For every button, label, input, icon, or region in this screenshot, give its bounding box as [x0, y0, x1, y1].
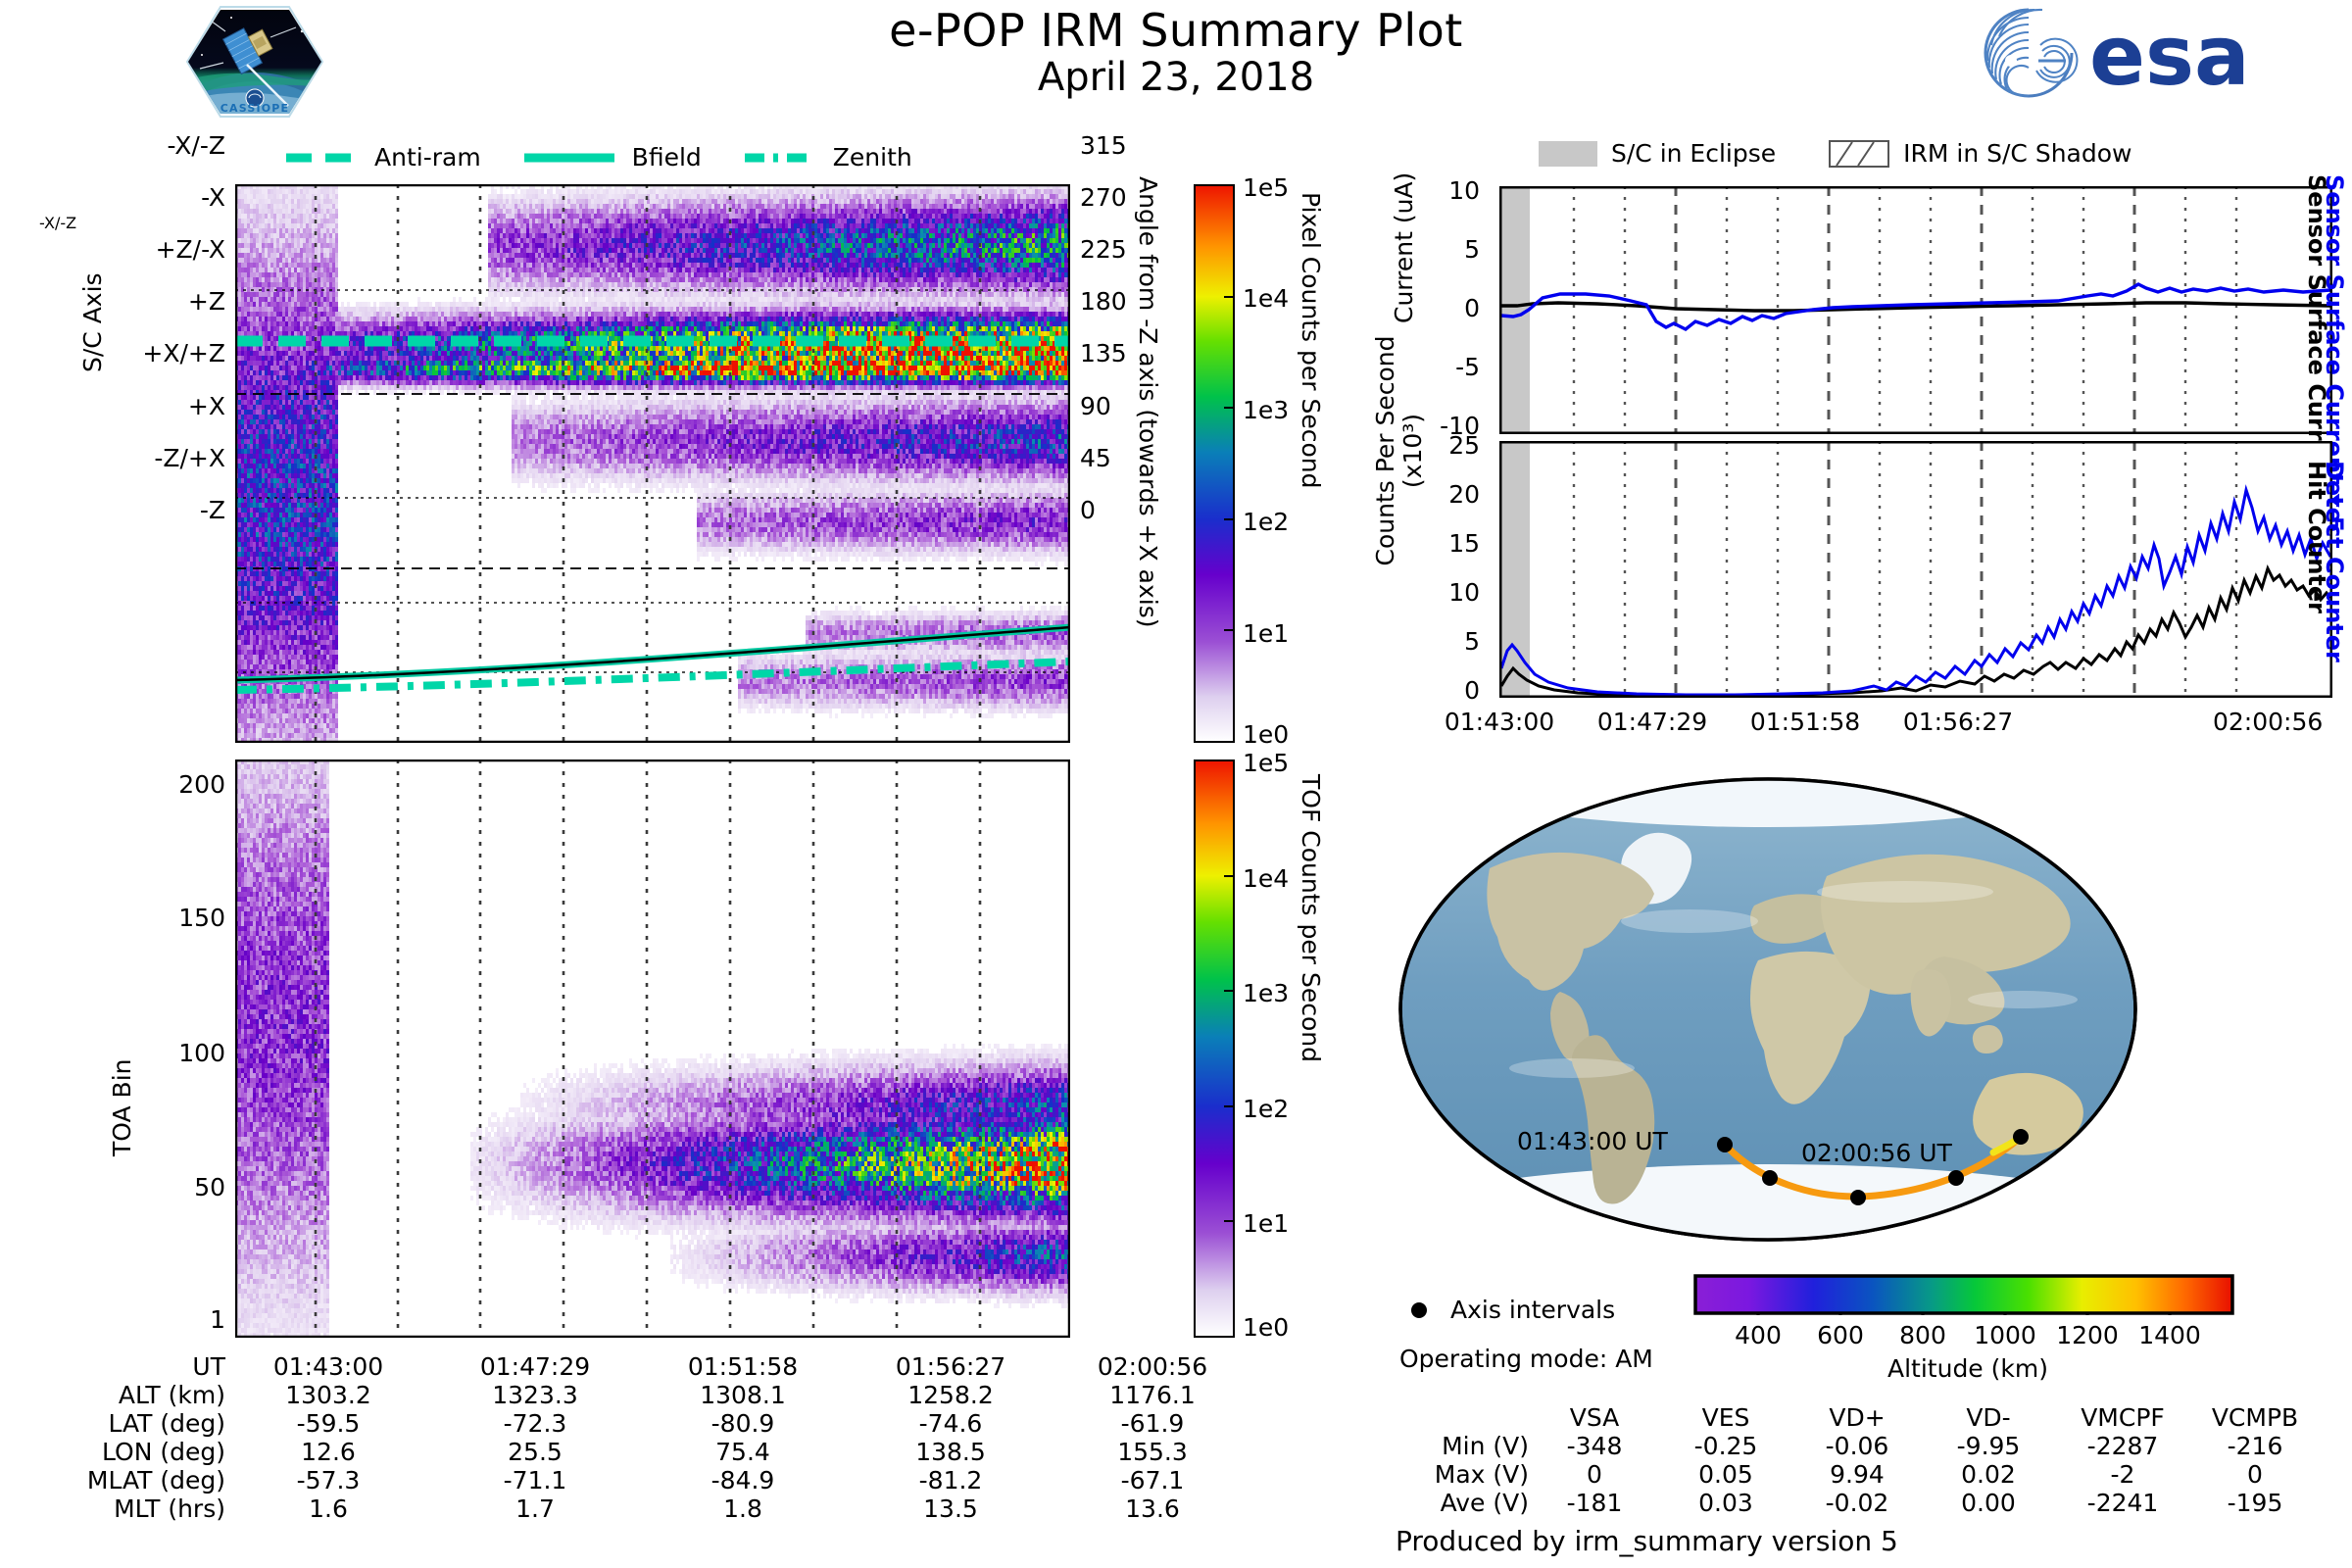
esa-logo: esa [1982, 6, 2334, 100]
eclipse-swatch-icon [1539, 141, 1597, 167]
spectrogram-top-ytick-left-label-0: -X/-Z [59, 131, 225, 160]
legend-swatch-bfield [522, 151, 616, 165]
operating-mode: Operating mode: AM [1399, 1345, 1653, 1373]
legend-label-anti-ram: Anti-ram [374, 143, 481, 171]
toa-ytick-0: 200 [59, 770, 225, 799]
counts-panel-plot [1499, 441, 2332, 698]
voltage-col-vdp: VD+ [1791, 1403, 1923, 1432]
voltage-row-min: Min (V) -348 -0.25 -0.06 -9.95 -2287 -21… [1396, 1432, 2319, 1460]
pixel-cb-tick-4: 1e1 [1243, 619, 1289, 648]
pixel-counts-colorbar [1194, 184, 1235, 743]
cell-lon-2: 75.4 [639, 1438, 847, 1466]
voltage-table: VSA VES VD+ VD- VMCPF VCMPB Min (V) -348… [1396, 1403, 2319, 1517]
counts-ytick-1: 20 [1372, 480, 1480, 509]
cell-lon-1: 25.5 [431, 1438, 639, 1466]
pixel-cb-tick-3: 1e2 [1243, 508, 1289, 536]
cell-lon-3: 138.5 [847, 1438, 1054, 1466]
spectrogram-top-ytick-left-label-5: +X [59, 392, 225, 420]
current-panel-legend: S/C in Eclipse IRM in S/C Shadow [1539, 139, 2131, 168]
voltage-ave-vdm: 0.00 [1923, 1489, 2054, 1517]
voltage-col-vdm: VD- [1923, 1403, 2054, 1432]
voltage-col-ves: VES [1660, 1403, 1791, 1432]
counts-ytick-2: 15 [1372, 529, 1480, 558]
svg-text:esa: esa [2089, 8, 2250, 100]
spectrogram-top-ytick-right-label-2: 225 [1080, 235, 1127, 264]
counts-xtick-3: 01:56:27 [1870, 708, 2046, 736]
row-label-lon: LON (deg) [29, 1438, 225, 1466]
footer-produced-by: Produced by irm_summary version 5 [1396, 1525, 1898, 1557]
spectrogram-top-ytick-right-label-1: 270 [1080, 183, 1127, 212]
tof-cb-tick-1: 1e4 [1243, 864, 1289, 893]
spectrogram-top-ytick-right-label-4: 135 [1080, 339, 1127, 367]
map-end-label: 02:00:56 UT [1801, 1139, 1952, 1167]
legend-label-zenith: Zenith [833, 143, 912, 171]
cell-alt-4: 1176.1 [1054, 1381, 1250, 1409]
table-row-mlt: MLT (hrs) 1.6 1.7 1.8 13.5 13.6 [29, 1494, 1250, 1523]
voltage-header-row: VSA VES VD+ VD- VMCPF VCMPB [1396, 1403, 2319, 1432]
cell-mlat-3: -81.2 [847, 1466, 1054, 1494]
cell-ut-3: 01:56:27 [847, 1352, 1054, 1381]
spectrogram-top-ytick-left-label-6: -Z/+X [59, 444, 225, 472]
spectrogram-top-ylabel-right: Angle from -Z axis (towards +X axis) [1134, 176, 1162, 628]
cell-mlt-2: 1.8 [639, 1494, 847, 1523]
row-label-ut: UT [29, 1352, 225, 1381]
map-start-label: 01:43:00 UT [1517, 1127, 1668, 1155]
cell-mlt-3: 13.5 [847, 1494, 1054, 1523]
spectrogram-top [235, 184, 1070, 743]
ephemeris-table: UT 01:43:00 01:47:29 01:51:58 01:56:27 0… [29, 1352, 1250, 1523]
toa-ytick-4: 1 [59, 1305, 225, 1334]
current-ytick-0: 10 [1372, 176, 1480, 205]
axis-intervals-legend: Axis intervals [1411, 1296, 1615, 1324]
voltage-max-vsa: 0 [1529, 1460, 1660, 1489]
cell-lat-1: -72.3 [431, 1409, 639, 1438]
spectrogram-top-ytick-right-label-7: 0 [1080, 496, 1096, 524]
cell-mlat-1: -71.1 [431, 1466, 639, 1494]
voltage-col-vsa: VSA [1529, 1403, 1660, 1432]
cell-lat-3: -74.6 [847, 1409, 1054, 1438]
cell-mlt-0: 1.6 [225, 1494, 431, 1523]
tof-cb-tick-2: 1e3 [1243, 979, 1289, 1007]
voltage-ave-ves: 0.03 [1660, 1489, 1791, 1517]
pixel-cb-tick-5: 1e0 [1243, 720, 1289, 749]
counts-ytick-5: 0 [1372, 676, 1480, 705]
voltage-min-vdp: -0.06 [1791, 1432, 1923, 1460]
spectrogram-top-ytick-right-label-6: 45 [1080, 444, 1111, 472]
voltage-ave-vsa: -181 [1529, 1489, 1660, 1517]
spectrogram-top-ytick-left-label-7: -Z [59, 496, 225, 524]
current-panel-plot [1499, 186, 2332, 434]
spectrogram-top-ytick-left-label-2: +Z/-X [59, 235, 225, 264]
tof-cb-tick-5: 1e0 [1243, 1313, 1289, 1342]
legend-label-eclipse: S/C in Eclipse [1611, 139, 1776, 168]
legend-label-shadow: IRM in S/C Shadow [1903, 139, 2131, 168]
counts-ytick-3: 10 [1372, 578, 1480, 607]
voltage-max-ves: 0.05 [1660, 1460, 1791, 1489]
spectrogram-bottom [235, 759, 1070, 1338]
cell-ut-0: 01:43:00 [225, 1352, 431, 1381]
voltage-ave-vmcpf: -2241 [2054, 1489, 2191, 1517]
legend-swatch-anti-ram [284, 151, 359, 165]
counts-xtick-2: 01:51:58 [1717, 708, 1893, 736]
counts-ytick-0: 25 [1372, 431, 1480, 460]
altitude-colorbar [1693, 1274, 2234, 1315]
alt-cb-tick-5: 1400 [2111, 1321, 2229, 1349]
table-row-alt: ALT (km) 1303.2 1323.3 1308.1 1258.2 117… [29, 1381, 1250, 1409]
toa-ytick-1: 150 [59, 904, 225, 932]
cell-ut-4: 02:00:56 [1054, 1352, 1250, 1381]
voltage-max-vdp: 9.94 [1791, 1460, 1923, 1489]
counts-right-label-black: Hit Counter [2303, 461, 2330, 613]
cell-lat-2: -80.9 [639, 1409, 847, 1438]
counts-ytick-4: 5 [1372, 627, 1480, 656]
voltage-min-vsa: -348 [1529, 1432, 1660, 1460]
tof-counts-colorbar [1194, 759, 1235, 1338]
cell-ut-2: 01:51:58 [639, 1352, 847, 1381]
voltage-max-vcmpb: 0 [2191, 1460, 2319, 1489]
voltage-min-vdm: -9.95 [1923, 1432, 2054, 1460]
voltage-col-vcmpb: VCMPB [2191, 1403, 2319, 1432]
tof-cb-tick-0: 1e5 [1243, 749, 1289, 777]
tof-cb-tick-4: 1e1 [1243, 1209, 1289, 1238]
cell-lat-0: -59.5 [225, 1409, 431, 1438]
voltage-row-ave: Ave (V) -181 0.03 -0.02 0.00 -2241 -195 [1396, 1489, 2319, 1517]
cell-lat-4: -61.9 [1054, 1409, 1250, 1438]
cell-mlat-0: -57.3 [225, 1466, 431, 1494]
voltage-min-vcmpb: -216 [2191, 1432, 2319, 1460]
current-right-label-black: Sensor Surface Current [2303, 174, 2330, 485]
tof-cb-label: TOF Counts per Second [1297, 774, 1325, 1062]
cell-alt-2: 1308.1 [639, 1381, 847, 1409]
pixel-cb-tick-0: 1e5 [1243, 173, 1289, 202]
alt-cb-label: Altitude (km) [1801, 1354, 2134, 1383]
row-label-alt: ALT (km) [29, 1381, 225, 1409]
voltage-row-label-ave: Ave (V) [1396, 1489, 1529, 1517]
counts-xtick-0: 01:43:00 [1411, 708, 1588, 736]
shadow-hatch-icon [1829, 140, 1889, 168]
counts-xtick-1: 01:47:29 [1564, 708, 1740, 736]
toa-ytick-3: 50 [59, 1173, 225, 1201]
voltage-row-label-max: Max (V) [1396, 1460, 1529, 1489]
row-label-lat: LAT (deg) [29, 1409, 225, 1438]
cell-mlt-1: 1.7 [431, 1494, 639, 1523]
svg-text:CASSIOPE: CASSIOPE [220, 102, 290, 115]
spectrogram-bottom-ylabel: TOA Bin [108, 1059, 136, 1157]
voltage-row-label-min: Min (V) [1396, 1432, 1529, 1460]
spectrogram-top-ytick-right-label-3: 180 [1080, 287, 1127, 316]
pixel-cb-tick-2: 1e3 [1243, 396, 1289, 424]
legend-swatch-zenith [743, 151, 817, 165]
table-row-lon: LON (deg) 12.6 25.5 75.4 138.5 155.3 [29, 1438, 1250, 1466]
voltage-row-max: Max (V) 0 0.05 9.94 0.02 -2 0 [1396, 1460, 2319, 1489]
table-row-lat: LAT (deg) -59.5 -72.3 -80.9 -74.6 -61.9 [29, 1409, 1250, 1438]
row-label-mlat: MLAT (deg) [29, 1466, 225, 1494]
row-label-mlt: MLT (hrs) [29, 1494, 225, 1523]
spectrogram-top-ytick-right-label-0: 315 [1080, 131, 1127, 160]
cell-alt-0: 1303.2 [225, 1381, 431, 1409]
spectrogram-top-ytick-left-label-3: +Z [59, 287, 225, 316]
axis-interval-marker-icon [1411, 1302, 1427, 1318]
voltage-ave-vcmpb: -195 [2191, 1489, 2319, 1517]
cell-alt-1: 1323.3 [431, 1381, 639, 1409]
spectrogram-top-ytick-left-label-4: +X/+Z [59, 339, 225, 367]
cell-mlt-4: 13.6 [1054, 1494, 1250, 1523]
cell-ut-1: 01:47:29 [431, 1352, 639, 1381]
tof-cb-tick-3: 1e2 [1243, 1095, 1289, 1123]
counts-xtick-4: 02:00:56 [2213, 708, 2352, 736]
table-row-mlat: MLAT (deg) -57.3 -71.1 -84.9 -81.2 -67.1 [29, 1466, 1250, 1494]
spectrogram-top-ytick-left-0: -X/-Z [39, 214, 225, 232]
cell-mlat-2: -84.9 [639, 1466, 847, 1494]
legend-label-bfield: Bfield [632, 143, 702, 171]
spectrogram-top-ytick-left-label-1: -X [59, 183, 225, 212]
voltage-max-vmcpf: -2 [2054, 1460, 2191, 1489]
voltage-ave-vdp: -0.02 [1791, 1489, 1923, 1517]
cell-lon-4: 155.3 [1054, 1438, 1250, 1466]
pixel-cb-label: Pixel Counts per Second [1297, 192, 1325, 488]
cell-alt-3: 1258.2 [847, 1381, 1054, 1409]
ground-track-map [1396, 774, 2140, 1245]
voltage-col-vmcpf: VMCPF [2054, 1403, 2191, 1432]
current-ytick-1: 5 [1372, 235, 1480, 264]
spectrogram-legend: Anti-ram Bfield Zenith [284, 143, 912, 171]
cell-lon-0: 12.6 [225, 1438, 431, 1466]
voltage-max-vdm: 0.02 [1923, 1460, 2054, 1489]
toa-ytick-2: 100 [59, 1039, 225, 1067]
voltage-min-ves: -0.25 [1660, 1432, 1791, 1460]
voltage-min-vmcpf: -2287 [2054, 1432, 2191, 1460]
cell-mlat-4: -67.1 [1054, 1466, 1250, 1494]
pixel-cb-tick-1: 1e4 [1243, 284, 1289, 313]
table-row-ut: UT 01:43:00 01:47:29 01:51:58 01:56:27 0… [29, 1352, 1250, 1381]
spectrogram-top-ytick-right-label-5: 90 [1080, 392, 1111, 420]
axis-intervals-label: Axis intervals [1450, 1296, 1615, 1324]
